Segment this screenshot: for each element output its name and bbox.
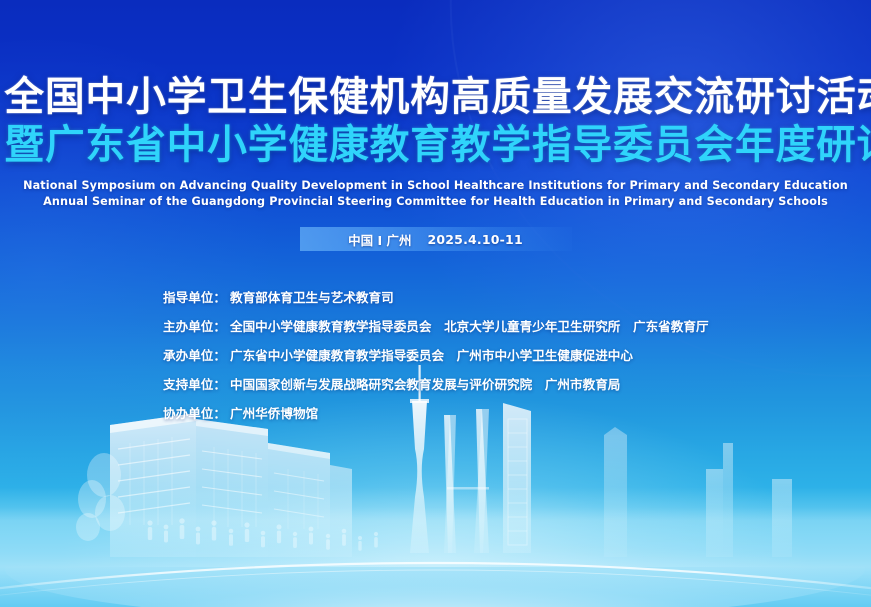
event-date: 2025.4.10-11 bbox=[427, 232, 522, 247]
conference-poster: 全国中小学卫生保健机构高质量发展交流研讨活动 暨广东省中小学健康教育教学指导委员… bbox=[0, 0, 871, 607]
organization-row: 协办单位： 广州华侨博物馆 bbox=[163, 405, 709, 423]
title-line-secondary: 暨广东省中小学健康教育教学指导委员会年度研讨活动 bbox=[4, 122, 866, 168]
organization-value: 广东省中小学健康教育教学指导委员会 广州市中小学卫生健康促进中心 bbox=[230, 347, 633, 365]
organization-row: 主办单位： 全国中小学健康教育教学指导委员会 北京大学儿童青少年卫生研究所 广东… bbox=[163, 318, 709, 336]
event-info-badge-wrapper: 中国 I 广州 2025.4.10-11 bbox=[0, 227, 871, 251]
poster-title: 全国中小学卫生保健机构高质量发展交流研讨活动 暨广东省中小学健康教育教学指导委员… bbox=[0, 74, 871, 168]
mid-right-tower bbox=[604, 427, 627, 557]
subtitle-line-2: Annual Seminar of the Guangdong Provinci… bbox=[0, 194, 871, 210]
organization-label: 支持单位： bbox=[163, 376, 226, 394]
organization-row: 支持单位： 中国国家创新与发展战略研究会教育发展与评价研究院 广州市教育局 bbox=[163, 376, 709, 394]
title-line-primary: 全国中小学卫生保健机构高质量发展交流研讨活动 bbox=[4, 74, 866, 120]
tree-cluster bbox=[76, 453, 125, 541]
organization-value: 广州华侨博物馆 bbox=[230, 405, 318, 423]
organization-value: 教育部体育卫生与艺术教育司 bbox=[230, 289, 394, 307]
organization-value: 中国国家创新与发展战略研究会教育发展与评价研究院 广州市教育局 bbox=[230, 376, 620, 394]
event-info-badge: 中国 I 广州 2025.4.10-11 bbox=[300, 227, 572, 251]
plaza-figures bbox=[147, 518, 378, 550]
horizon-arc bbox=[0, 563, 871, 593]
organization-row: 指导单位： 教育部体育卫生与艺术教育司 bbox=[163, 289, 709, 307]
organization-value: 全国中小学健康教育教学指导委员会 北京大学儿童青少年卫生研究所 广东省教育厅 bbox=[230, 318, 709, 336]
poster-subtitle-english: National Symposium on Advancing Quality … bbox=[0, 178, 871, 210]
horizon-arc-secondary bbox=[0, 570, 871, 600]
subtitle-line-1: National Symposium on Advancing Quality … bbox=[0, 178, 871, 194]
ground-glow bbox=[0, 487, 871, 607]
event-location: 中国 I 广州 bbox=[348, 230, 411, 249]
organization-label: 指导单位： bbox=[163, 289, 226, 307]
organization-label: 承办单位： bbox=[163, 347, 226, 365]
distant-towers-right bbox=[706, 443, 792, 557]
organization-label: 主办单位： bbox=[163, 318, 226, 336]
organization-label: 协办单位： bbox=[163, 405, 226, 423]
school-building-illustration bbox=[76, 413, 352, 557]
organization-row: 承办单位： 广东省中小学健康教育教学指导委员会 广州市中小学卫生健康促进中心 bbox=[163, 347, 709, 365]
organization-list: 指导单位： 教育部体育卫生与艺术教育司 主办单位： 全国中小学健康教育教学指导委… bbox=[163, 289, 709, 434]
